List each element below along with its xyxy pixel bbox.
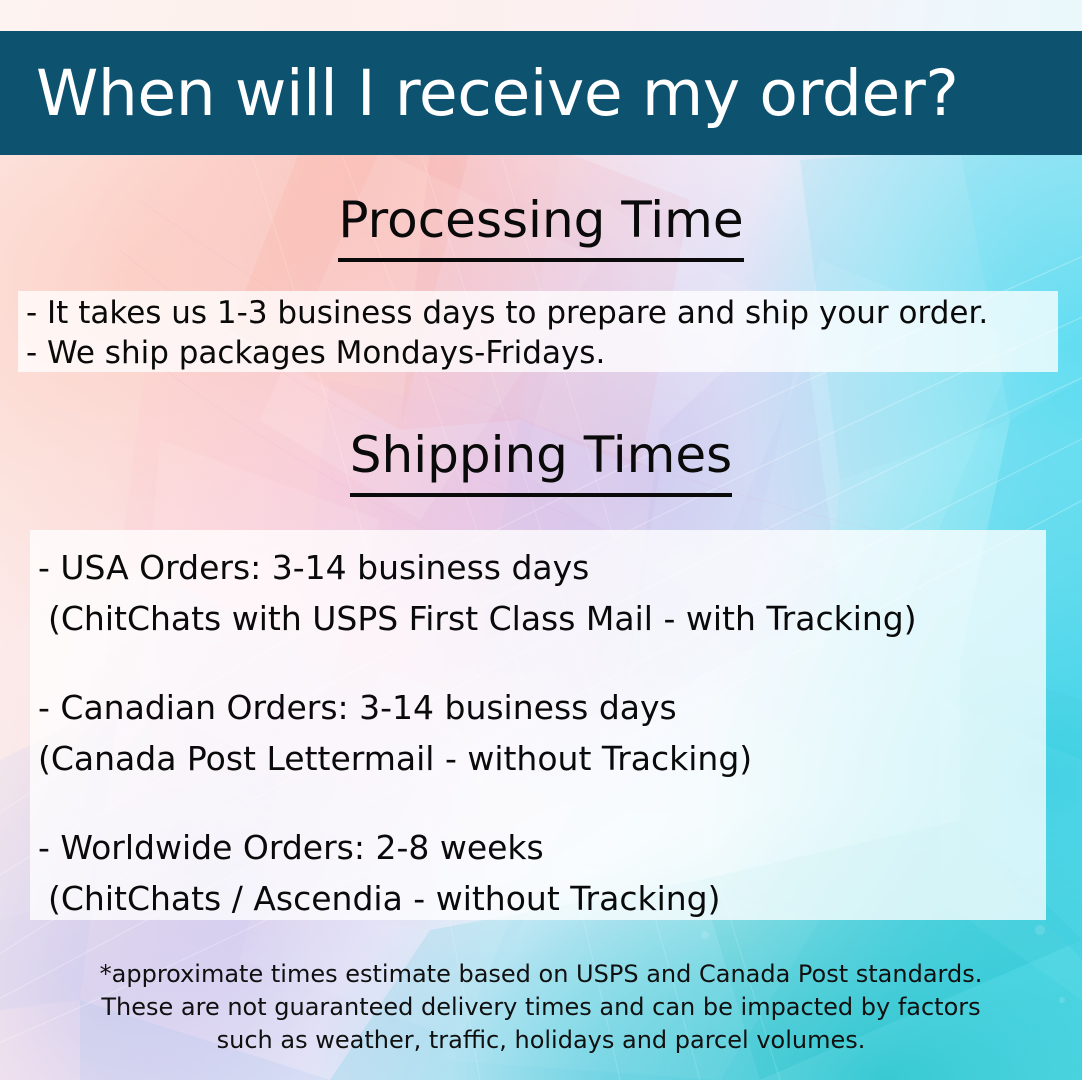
footnote-line-2: These are not guaranteed delivery times … bbox=[0, 991, 1082, 1024]
shipping-times-panel: - USA Orders: 3-14 business days (ChitCh… bbox=[30, 530, 1046, 920]
top-gradient-strip bbox=[0, 0, 1082, 31]
shipping-region-worldwide: - Worldwide Orders: 2-8 weeks bbox=[38, 822, 1046, 873]
processing-time-panel: - It takes us 1-3 business days to prepa… bbox=[18, 291, 1058, 372]
processing-line-1: - It takes us 1-3 business days to prepa… bbox=[26, 293, 1058, 333]
processing-line-2: - We ship packages Mondays-Fridays. bbox=[26, 333, 1058, 373]
footnote-line-3: such as weather, traffic, holidays and p… bbox=[0, 1024, 1082, 1057]
header-banner: When will I receive my order? bbox=[0, 31, 1082, 155]
shipping-region-usa: - USA Orders: 3-14 business days bbox=[38, 542, 1046, 593]
shipping-block-worldwide: - Worldwide Orders: 2-8 weeks (ChitChats… bbox=[38, 822, 1046, 924]
page-title: When will I receive my order? bbox=[0, 62, 958, 125]
shipping-region-canada: - Canadian Orders: 3-14 business days bbox=[38, 682, 1046, 733]
shipping-carrier-worldwide: (ChitChats / Ascendia - without Tracking… bbox=[38, 873, 1046, 924]
shipping-carrier-usa: (ChitChats with USPS First Class Mail - … bbox=[38, 593, 1046, 644]
section-heading-shipping-times: Shipping Times bbox=[0, 430, 1082, 480]
section-heading-processing-time-label: Processing Time bbox=[338, 191, 743, 262]
shipping-block-usa: - USA Orders: 3-14 business days (ChitCh… bbox=[38, 542, 1046, 644]
shipping-block-canada: - Canadian Orders: 3-14 business days (C… bbox=[38, 682, 1046, 784]
section-heading-processing-time: Processing Time bbox=[0, 195, 1082, 245]
shipping-policy-graphic: When will I receive my order? Processing… bbox=[0, 0, 1082, 1080]
footnote-disclaimer: *approximate times estimate based on USP… bbox=[0, 958, 1082, 1057]
section-heading-shipping-times-label: Shipping Times bbox=[350, 426, 732, 497]
shipping-carrier-canada: (Canada Post Lettermail - without Tracki… bbox=[38, 733, 1046, 784]
footnote-line-1: *approximate times estimate based on USP… bbox=[0, 958, 1082, 991]
